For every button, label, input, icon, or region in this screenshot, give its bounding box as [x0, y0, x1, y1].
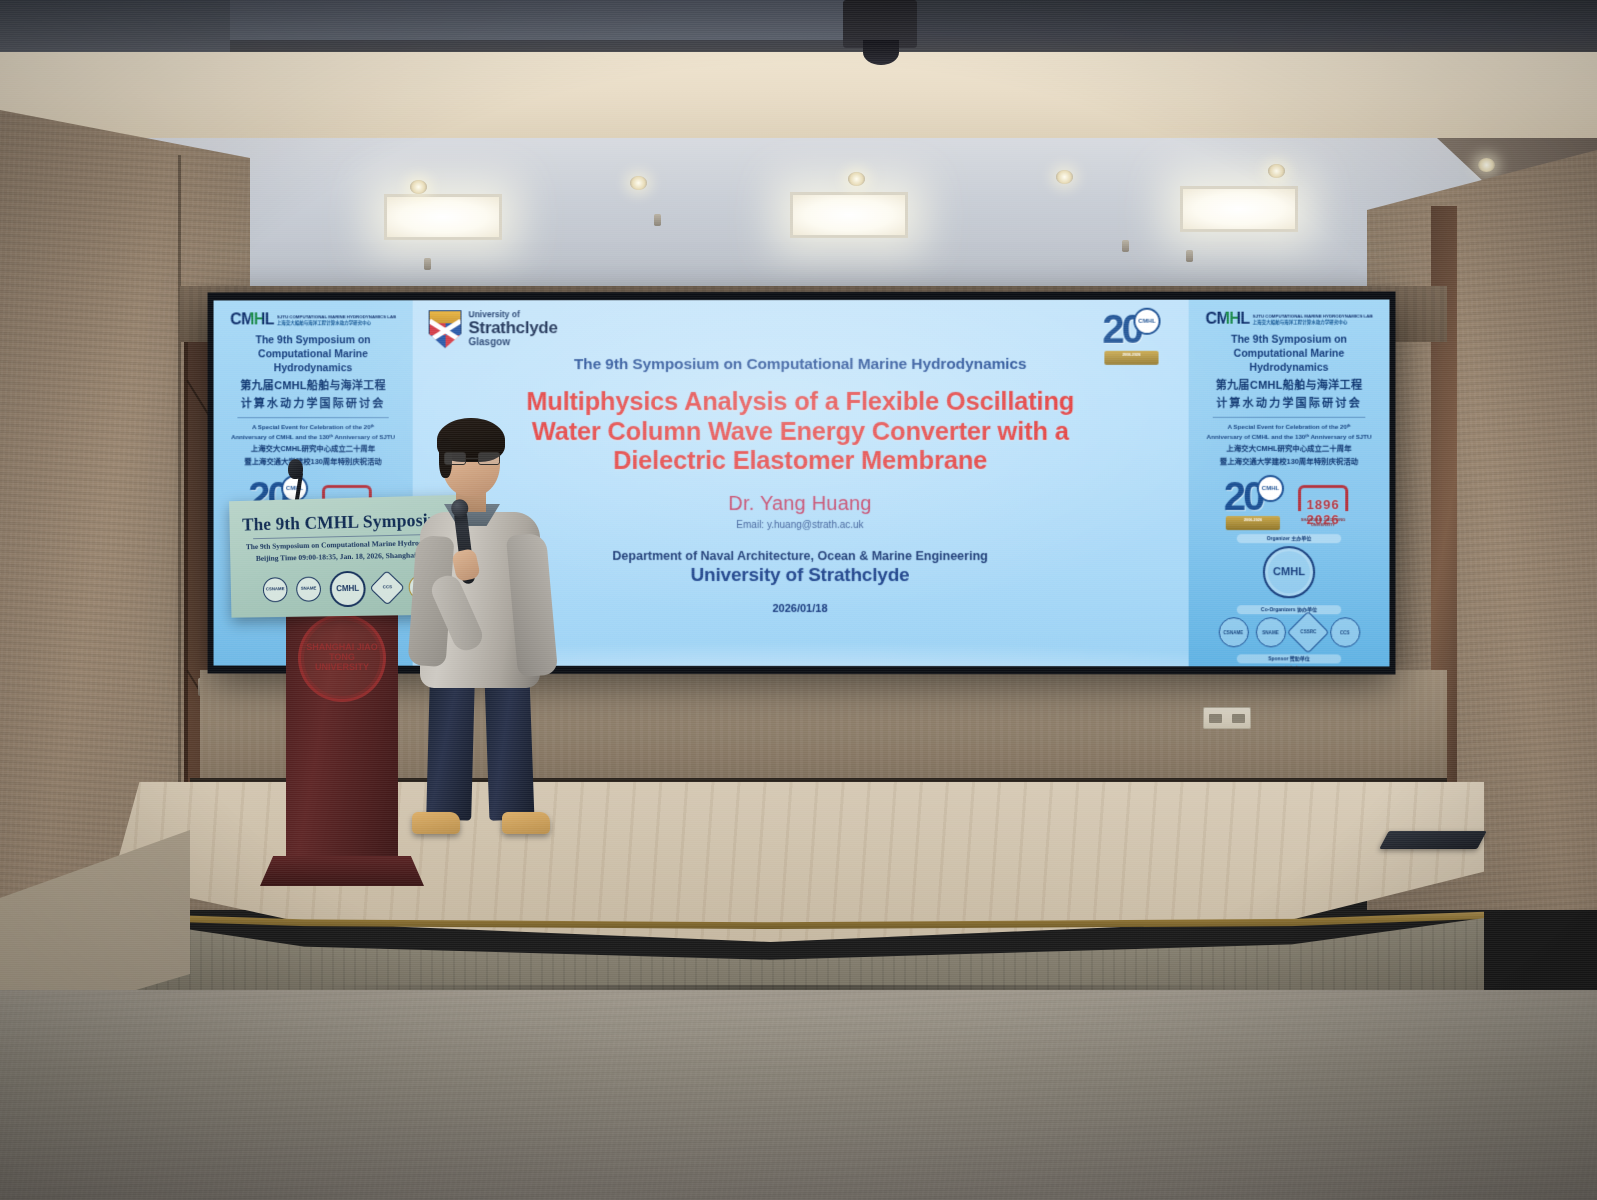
presenter-leg: [426, 677, 475, 820]
coorganizer-logo: CCS: [1330, 618, 1360, 648]
strathclyde-logo: University of Strathclyde Glasgow: [429, 310, 558, 349]
sign-logo: SNAME: [296, 577, 321, 602]
side-special-cn1: 上海交大CMHL研究中心成立二十周年: [1197, 444, 1382, 455]
ceiling-beam-mid: [230, 0, 860, 40]
anniversary-20-logo-center: 20 CMHL 2006-2026: [1102, 306, 1158, 362]
sign-logo: CSNAME: [263, 577, 288, 602]
downlight: [1478, 158, 1495, 172]
organizer-label: Organizer 主办单位: [1237, 535, 1341, 544]
anniversary-years: 2006-2026: [1104, 351, 1158, 365]
slide-title-line-1: Multiphysics Analysis of a Flexible Osci…: [433, 388, 1169, 418]
sign-logo-text: CCS: [382, 586, 391, 591]
microphone-icon: [288, 459, 303, 479]
wall-seam: [178, 155, 181, 855]
sprinkler-head: [1122, 240, 1129, 252]
sprinkler-head: [424, 258, 431, 270]
strathclyde-line3: Glasgow: [468, 337, 557, 349]
side-title-line1: The 9th Symposium on: [1197, 334, 1382, 348]
ceiling-projector: [843, 0, 917, 48]
strathclyde-shield-icon: [429, 310, 462, 348]
side-title-cn1: 第九届CMHL船舶与海洋工程: [1197, 378, 1382, 394]
divider: [1213, 417, 1366, 418]
side-title-cn2: 计算水动力学国际研讨会: [1197, 397, 1382, 412]
downlight: [848, 172, 865, 186]
side-special-cn2: 暨上海交通大学建校130周年特别庆祝活动: [1197, 457, 1382, 468]
side-title-line2: Computational Marine Hydrodynamics: [221, 348, 404, 376]
outlet-socket-icon: [1232, 714, 1245, 723]
sign-logo-cmhl: CMHL: [329, 570, 366, 607]
downlight: [1056, 170, 1073, 184]
panel-light: [384, 194, 502, 240]
cmhl-logo-left: CMHL SJTU COMPUTATIONAL MARINE HYDRODYNA…: [221, 312, 404, 328]
ceiling-beam-left: [0, 0, 230, 52]
anniversary-seal: CMHL: [1133, 308, 1160, 335]
presenter: [398, 424, 558, 836]
email-label: Email:: [736, 520, 764, 531]
cmhl-subtitle-cn: 上海交大船舶与海洋工程计算水动力学研究中心: [277, 320, 396, 326]
side-title-cn1: 第九届CMHL船舶与海洋工程: [221, 379, 404, 394]
coorganizer-logos: CSNAME SNAME CSSRC CCS: [1197, 618, 1382, 648]
downlight: [630, 176, 647, 190]
conference-room-photo: CMHL SJTU COMPUTATIONAL MARINE HYDRODYNA…: [0, 0, 1597, 1200]
presenter-shoe: [412, 812, 460, 834]
ceiling-soffit: [0, 52, 1597, 140]
sprinkler-head: [654, 214, 661, 226]
side-title-cn2: 计算水动力学国际研讨会: [221, 397, 404, 412]
downlight: [410, 180, 427, 194]
outlet-socket-icon: [1209, 714, 1222, 723]
gate-caption: SHANGHAI JIAO TONG UNIVERSITY: [1292, 517, 1354, 527]
side-special-line2: Anniversary of CMHL and the 130ᵗʰ Annive…: [1197, 433, 1382, 442]
strathclyde-wordmark: University of Strathclyde Glasgow: [468, 310, 557, 349]
carpet-floor: [0, 990, 1597, 1200]
downlight: [1268, 164, 1285, 178]
cmhl-acronym: CMHL: [230, 312, 274, 328]
strathclyde-line2: Strathclyde: [468, 320, 557, 338]
sponsor-label: Sponsor 赞助单位: [1237, 655, 1341, 664]
sprinkler-head: [1186, 250, 1193, 262]
organizer-seal: CMHL: [1263, 547, 1315, 599]
cmhl-logo-right: CMHL SJTU COMPUTATIONAL MARINE HYDRODYNA…: [1197, 312, 1382, 328]
cmhl-subtitle-block: SJTU COMPUTATIONAL MARINE HYDRODYNAMICS …: [277, 314, 396, 326]
presenter-shoe: [502, 812, 550, 834]
side-special-line1: A Special Event for Celebration of the 2…: [1197, 423, 1382, 432]
side-special-line2: Anniversary of CMHL and the 130ᵗʰ Annive…: [221, 433, 404, 442]
cmhl-subtitle-cn: 上海交大船舶与海洋工程计算水动力学研究中心: [1253, 320, 1373, 326]
power-outlet[interactable]: [1203, 707, 1251, 729]
panel-light: [790, 192, 908, 238]
lectern-base: [260, 856, 424, 886]
coorganizer-logo: SNAME: [1255, 618, 1285, 648]
symposium-line: The 9th Symposium on Computational Marin…: [433, 356, 1169, 374]
side-special-cn2: 暨上海交通大学建校130周年特别庆祝活动: [221, 457, 404, 468]
side-title-line2: Computational Marine Hydrodynamics: [1197, 348, 1382, 376]
coorganizer-logo: CSSRC: [1286, 611, 1329, 654]
cmhl-subtitle-block: SJTU COMPUTATIONAL MARINE HYDRODYNAMICS …: [1253, 314, 1373, 326]
slide-side-panel-right: CMHL SJTU COMPUTATIONAL MARINE HYDRODYNA…: [1189, 300, 1390, 667]
glasses-icon: [444, 452, 500, 465]
anniversary-20-logo: 20 CMHL 2006-2026: [1224, 473, 1282, 527]
presenter-leg: [485, 677, 535, 820]
coorganizer-label: Co-Organizers 协办单位: [1237, 606, 1341, 615]
side-logo-row-right: 20 CMHL 2006-2026 1896 2026 SHANGHAI JIA…: [1197, 473, 1382, 527]
cmhl-acronym: CMHL: [1205, 312, 1249, 328]
side-special-cn1: 上海交大CMHL研究中心成立二十周年: [221, 444, 404, 455]
sjtu-seal: SHANGHAI JIAO TONG UNIVERSITY: [298, 614, 386, 702]
projector-lens-icon: [863, 40, 899, 65]
sjtu-gate-logo: 1896 2026 SHANGHAI JIAO TONG UNIVERSITY: [1292, 479, 1354, 527]
divider: [237, 417, 388, 418]
lens: [444, 452, 466, 465]
coorganizer-logo-text: CSSRC: [1300, 630, 1316, 635]
coorganizer-logo: CSNAME: [1218, 618, 1248, 648]
presenter-legs: [426, 678, 532, 820]
side-title-line1: The 9th Symposium on: [221, 334, 404, 348]
floor-plate: [1379, 831, 1487, 849]
side-special-line1: A Special Event for Celebration of the 2…: [221, 423, 404, 432]
panel-light: [1180, 186, 1298, 232]
lens: [478, 452, 500, 465]
anniversary-seal: CMHL: [1257, 475, 1284, 502]
email-address: y.huang@strath.ac.uk: [767, 520, 864, 531]
anniversary-years: 2006-2026: [1226, 516, 1280, 530]
